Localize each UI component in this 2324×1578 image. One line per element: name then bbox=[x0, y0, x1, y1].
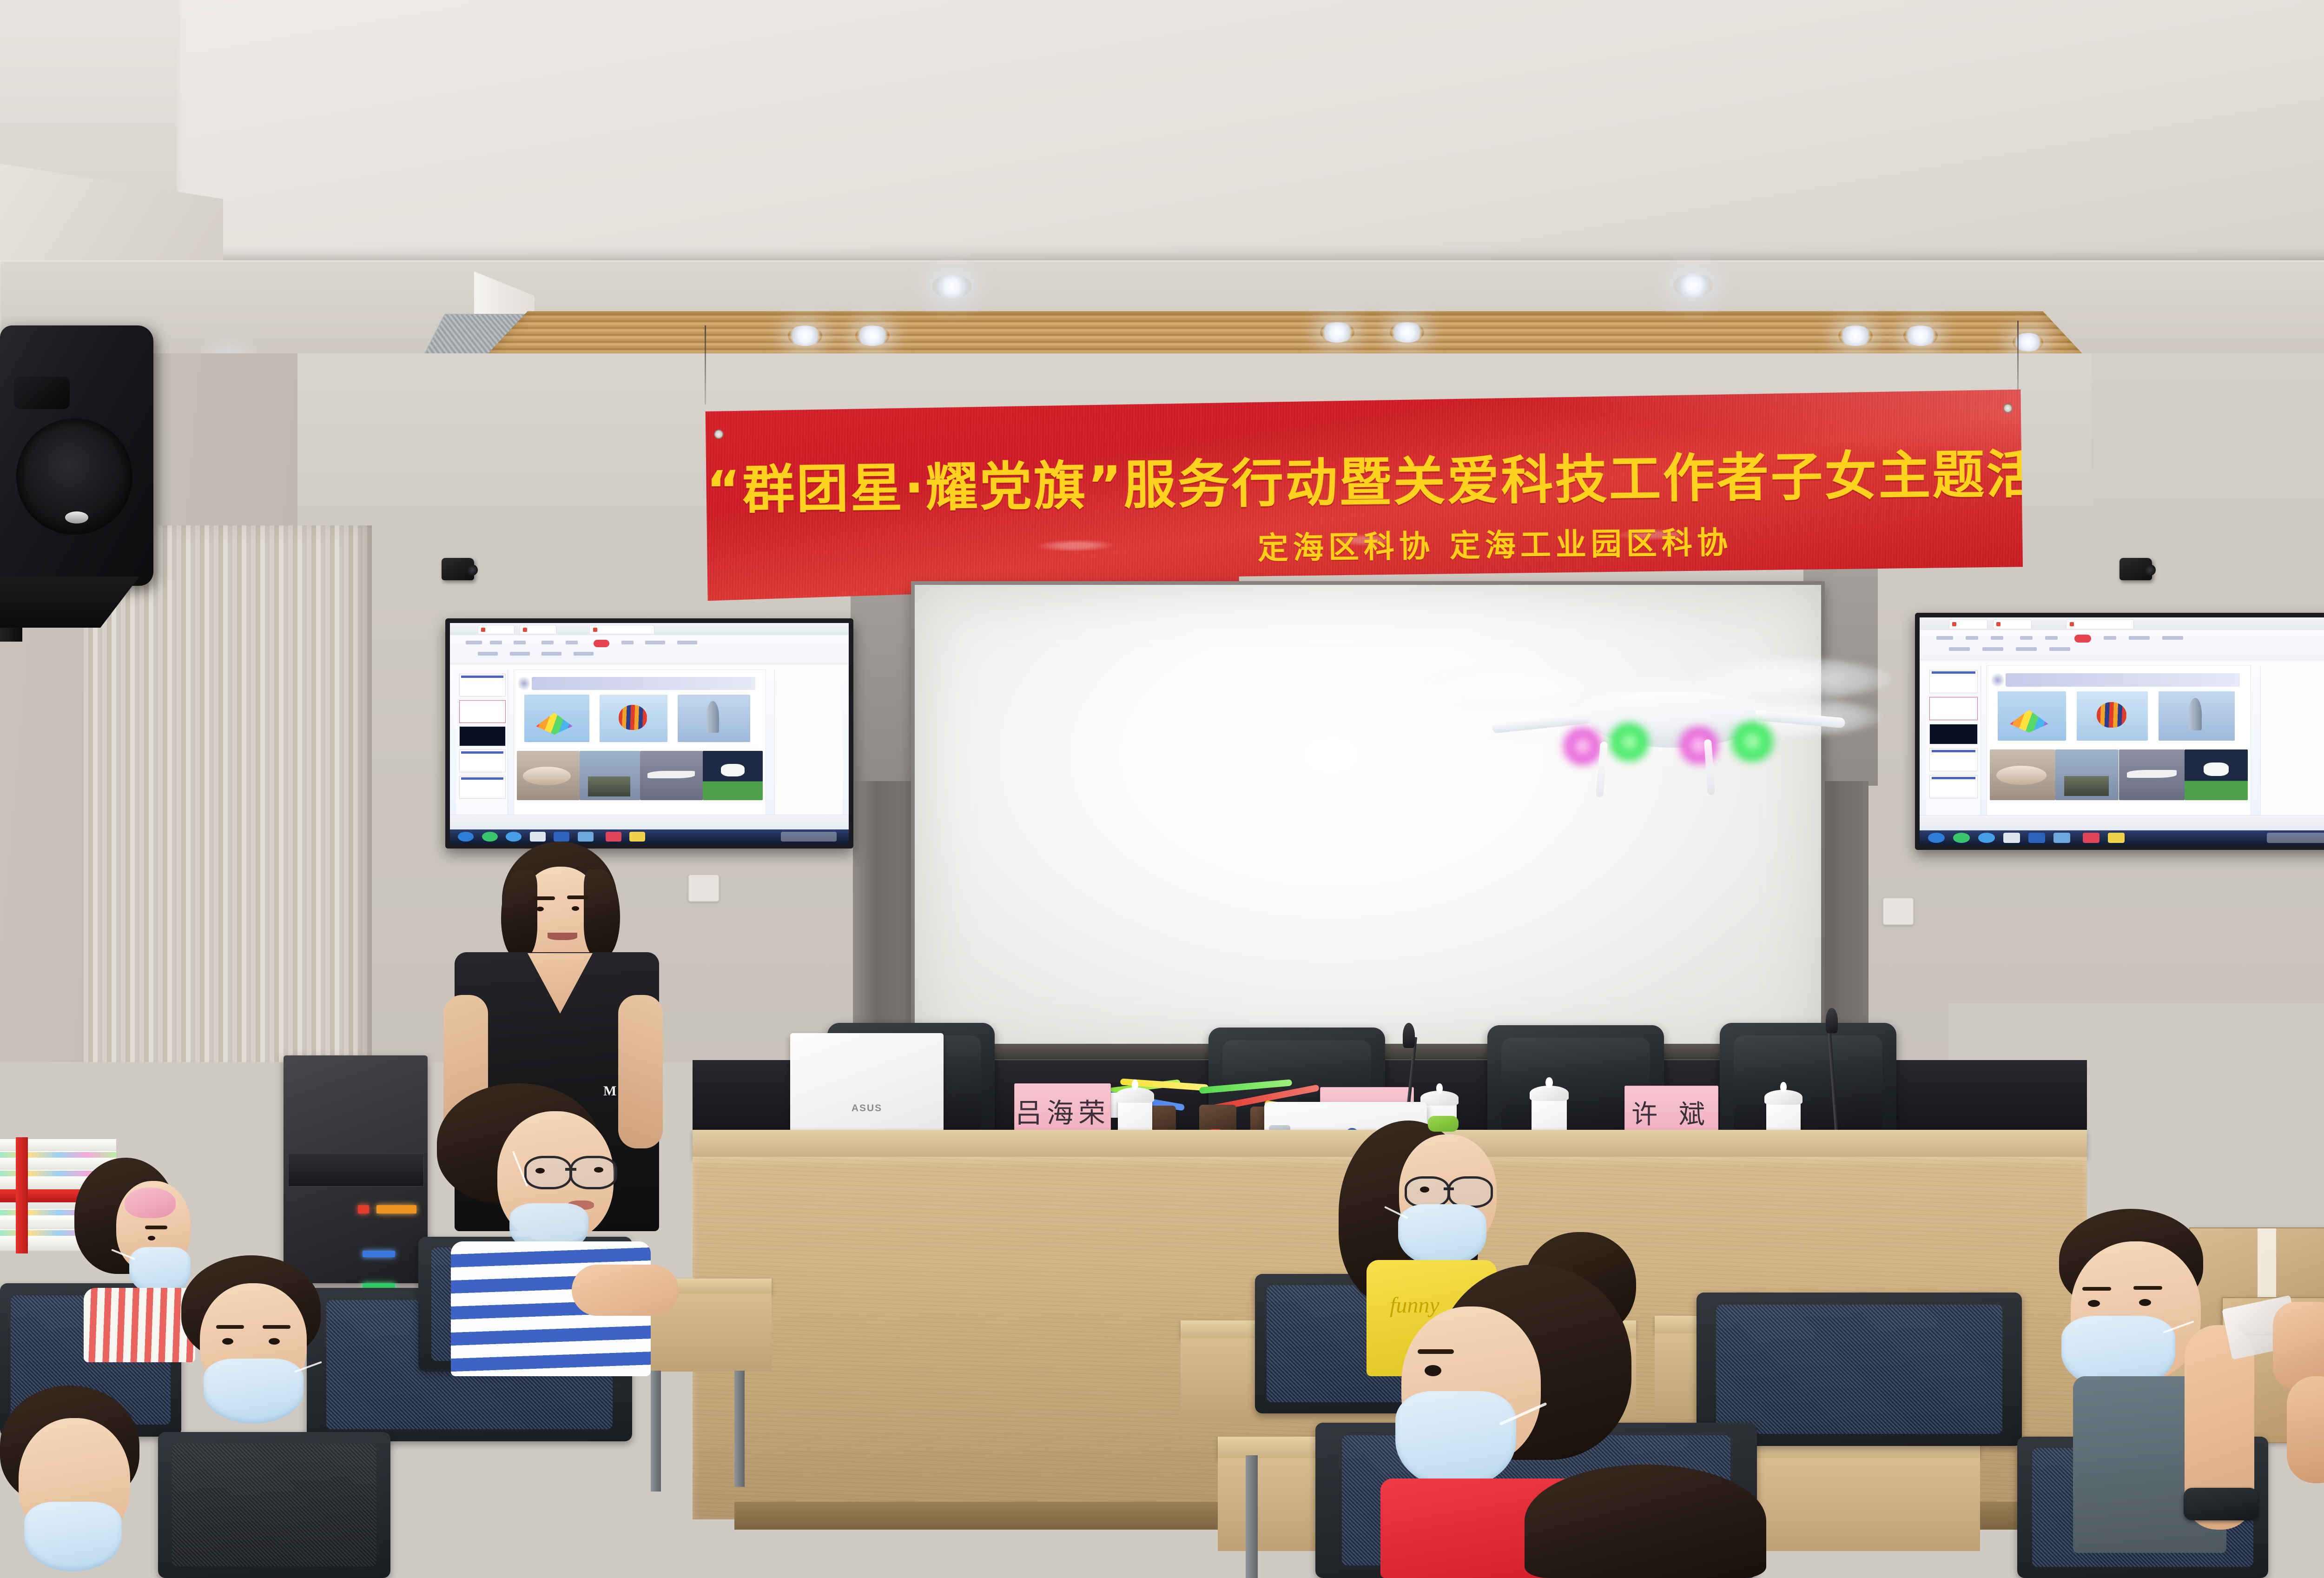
child-eye-left bbox=[222, 1338, 233, 1345]
gift-ribbon-vertical-2 bbox=[16, 1137, 28, 1253]
child-brow-left bbox=[1743, 1195, 1770, 1199]
child-eye-left bbox=[1749, 1207, 1759, 1213]
downlight-6 bbox=[1320, 322, 1354, 343]
pa-speaker bbox=[0, 325, 153, 586]
slide-thumbnail[interactable] bbox=[459, 674, 506, 696]
ribbon-tool[interactable] bbox=[541, 652, 561, 656]
drone-led-magenta-right bbox=[1673, 724, 1724, 766]
downlight-9 bbox=[1903, 325, 1938, 346]
slide-canvas[interactable] bbox=[514, 670, 766, 816]
slide-image-quadcopter bbox=[2185, 749, 2248, 800]
taskbar-icon-app2[interactable] bbox=[629, 832, 645, 842]
ribbon-tool[interactable] bbox=[1991, 636, 2003, 640]
notes-panel[interactable] bbox=[2260, 665, 2324, 816]
taskbar-icon-wps[interactable] bbox=[606, 832, 621, 842]
presenter-eye-left bbox=[536, 907, 544, 911]
slide-thumbnail[interactable] bbox=[1929, 724, 1978, 744]
child-brow-right bbox=[1789, 1194, 1816, 1198]
taskbar-icon-media[interactable] bbox=[2028, 833, 2045, 843]
slide-thumbnail[interactable] bbox=[1929, 670, 1978, 694]
ribbon-tool[interactable] bbox=[510, 652, 530, 656]
television-right bbox=[1915, 613, 2324, 850]
ribbon-tool[interactable] bbox=[621, 641, 634, 644]
slide-image-kite bbox=[524, 695, 590, 743]
hair-bow-icon bbox=[125, 1187, 176, 1218]
slide-image-kite bbox=[1998, 691, 2066, 741]
child-eye-right bbox=[594, 1167, 603, 1173]
name-placard-2-text: 许 斌 bbox=[1631, 1094, 1711, 1131]
microphone-head-2[interactable] bbox=[1826, 1008, 1838, 1033]
system-tray[interactable] bbox=[781, 832, 837, 842]
child-boy-glasses-striped bbox=[418, 1083, 679, 1381]
slide-image-hot-air-balloon bbox=[600, 695, 667, 743]
taskbar-icon-edge[interactable] bbox=[1978, 833, 1995, 843]
flying-drone bbox=[1404, 646, 1896, 800]
toy-drone-body-2 bbox=[1199, 1105, 1236, 1133]
speaker-badge-icon bbox=[65, 511, 88, 524]
taskbar-icon-tool[interactable] bbox=[578, 832, 594, 842]
slide-question-text bbox=[532, 677, 755, 690]
child-brow bbox=[1418, 1349, 1454, 1354]
book bbox=[0, 1077, 107, 1087]
drone-led-green-left bbox=[1604, 721, 1655, 763]
thumb-title-bar bbox=[461, 777, 503, 780]
child-arm bbox=[572, 1265, 679, 1316]
glasses-lens-right bbox=[570, 1156, 617, 1189]
ribbon-tool[interactable] bbox=[2049, 647, 2070, 651]
downlight-3 bbox=[1673, 273, 1713, 298]
slide-thumbnail[interactable] bbox=[1929, 775, 1978, 799]
child-brow-right bbox=[263, 1325, 290, 1329]
ribbon-active-tab[interactable] bbox=[2074, 635, 2091, 643]
downlight-4 bbox=[788, 325, 822, 346]
wps-tab-1[interactable] bbox=[478, 625, 515, 634]
presenter-eye-right bbox=[572, 906, 579, 911]
ribbon-tool[interactable] bbox=[1949, 647, 1970, 651]
banner-grommet-left bbox=[714, 430, 723, 439]
downlight-5 bbox=[855, 325, 890, 346]
slide-thumbnail[interactable] bbox=[1929, 748, 1978, 772]
slide-image-missile-launcher bbox=[580, 751, 640, 800]
notes-panel[interactable] bbox=[774, 670, 843, 816]
slide-image-quadcopter bbox=[703, 751, 763, 800]
taskbar-icon-wps[interactable] bbox=[2083, 833, 2100, 843]
taskbar-icon-edge[interactable] bbox=[506, 832, 522, 842]
television-left-screen bbox=[450, 623, 849, 844]
child-eye-right bbox=[2139, 1299, 2151, 1306]
child-boy-front-left bbox=[167, 1255, 339, 1441]
downlight-8 bbox=[1838, 325, 1873, 346]
laptop-brand-label: ASUS bbox=[846, 1103, 888, 1113]
slide-thumbnail-selected[interactable] bbox=[459, 700, 506, 723]
glasses-lens-right bbox=[1448, 1176, 1493, 1208]
ribbon-tool[interactable] bbox=[1982, 647, 2003, 651]
ribbon-tool[interactable] bbox=[466, 641, 482, 644]
taskbar-icon-app[interactable] bbox=[482, 832, 498, 842]
rack-led-orange bbox=[376, 1205, 416, 1213]
slide-image-fixed-wing-uav bbox=[640, 751, 703, 800]
ribbon-tool[interactable] bbox=[2129, 636, 2150, 640]
child-eye-left bbox=[535, 1168, 545, 1174]
wps-tab-2[interactable] bbox=[1993, 619, 2032, 629]
wps-tab-icon bbox=[481, 628, 485, 632]
wps-tab-active[interactable] bbox=[589, 625, 654, 634]
taskbar-icon-media[interactable] bbox=[554, 832, 569, 842]
face-mask bbox=[1732, 1227, 1830, 1296]
name-placard-1-text: 吕海荣 bbox=[1015, 1091, 1110, 1130]
teacup-knob bbox=[1545, 1077, 1552, 1088]
ribbon-tool[interactable] bbox=[566, 641, 578, 644]
television-left bbox=[445, 618, 853, 849]
slide-thumbnail-panel[interactable] bbox=[1926, 665, 1981, 816]
thumb-title-bar bbox=[1932, 777, 1976, 779]
speaker-horn bbox=[14, 377, 70, 409]
child-brow-left bbox=[216, 1325, 244, 1329]
child-brow-left bbox=[2082, 1287, 2111, 1291]
child-eye-left bbox=[2088, 1300, 2100, 1307]
ribbon-tool[interactable] bbox=[2104, 636, 2116, 640]
ribbon-tool[interactable] bbox=[2016, 647, 2037, 651]
wps-tab-icon bbox=[1952, 622, 1956, 626]
glasses-lens-left bbox=[524, 1156, 572, 1189]
ribbon-active-tab[interactable] bbox=[594, 640, 609, 647]
ribbon-tool[interactable] bbox=[478, 652, 498, 656]
microphone-head-1[interactable] bbox=[1403, 1023, 1415, 1048]
thumb-title-bar bbox=[1932, 750, 1976, 752]
glasses-bridge bbox=[565, 1168, 576, 1171]
slide-thumbnail[interactable] bbox=[459, 749, 506, 772]
face-mask bbox=[204, 1359, 304, 1424]
child-eye bbox=[148, 1236, 155, 1240]
ribbon-tool[interactable] bbox=[677, 641, 697, 644]
thumb-title-bar bbox=[1932, 671, 1976, 674]
child-torso bbox=[1701, 1293, 1878, 1390]
rack-led-blue bbox=[363, 1251, 395, 1257]
wps-tab-1[interactable] bbox=[1949, 619, 1987, 629]
wps-tab-2[interactable] bbox=[520, 625, 556, 634]
child-eye-right bbox=[1794, 1206, 1804, 1212]
ribbon-tool[interactable] bbox=[2045, 636, 2058, 640]
classroom-scene: “群团星·耀党旗”服务行动暨关爱科技工作者子女主题活动 定海区科协 定海工业园区… bbox=[0, 0, 2324, 1578]
child-girl-white-right bbox=[1692, 1130, 1887, 1390]
taskbar-icon-folder[interactable] bbox=[530, 832, 546, 842]
gift-ribbon-vertical bbox=[26, 1066, 38, 1149]
slide-image-rocket bbox=[678, 695, 751, 743]
slide-thumbnail-panel[interactable] bbox=[456, 670, 508, 816]
wps-tab-icon bbox=[523, 628, 527, 632]
book bbox=[0, 1110, 107, 1121]
eyeglasses bbox=[1405, 1176, 1493, 1203]
slide-thumbnail[interactable] bbox=[459, 726, 506, 746]
presenter-brow-right bbox=[567, 895, 589, 899]
slide-question-text bbox=[2006, 673, 2240, 687]
wps-tab-active[interactable] bbox=[2066, 619, 2134, 629]
slide-image-rocket bbox=[2159, 691, 2235, 741]
slide-thumbnail-selected[interactable] bbox=[1929, 697, 1978, 721]
banner-grommet-right bbox=[2003, 404, 2013, 413]
drone-led-green-right bbox=[1724, 720, 1780, 763]
child-arm bbox=[2287, 1376, 2324, 1483]
wall-outlet-right[interactable] bbox=[1882, 897, 1914, 925]
wps-tab-icon bbox=[1996, 622, 2000, 626]
ribbon-tool[interactable] bbox=[541, 641, 554, 644]
slide-image-hot-air-balloon bbox=[2077, 691, 2148, 741]
ribbon-tool[interactable] bbox=[1936, 636, 1953, 640]
wall-outlet-left[interactable] bbox=[688, 874, 720, 902]
hair-clip-icon bbox=[1428, 1116, 1459, 1132]
camera-lens-icon bbox=[2145, 564, 2156, 576]
event-banner: “群团星·耀党旗”服务行动暨关爱科技工作者子女主题活动 定海区科协 定海工业园区… bbox=[706, 390, 2023, 601]
teacup-knob bbox=[1132, 1080, 1139, 1090]
ribbon-tool[interactable] bbox=[490, 641, 502, 644]
banner-string-left bbox=[705, 325, 706, 404]
thumb-title-bar bbox=[461, 751, 503, 754]
child-brow-right bbox=[2133, 1286, 2162, 1290]
drone-icon bbox=[1991, 672, 2004, 688]
wps-tab-icon bbox=[2070, 622, 2074, 626]
slide-canvas[interactable] bbox=[1987, 665, 2251, 816]
floor bbox=[0, 1474, 2324, 1578]
ribbon-tool[interactable] bbox=[2020, 636, 2033, 640]
child-eye bbox=[1425, 1365, 1441, 1376]
wps-title-bar bbox=[450, 623, 849, 636]
child-partial-far-right bbox=[2268, 1283, 2324, 1483]
system-tray[interactable] bbox=[2267, 833, 2324, 843]
ribbon-tool[interactable] bbox=[1966, 636, 1978, 640]
taskbar-icon-folder[interactable] bbox=[2003, 833, 2020, 843]
slide-image-missile-launcher bbox=[2055, 749, 2119, 800]
rack-led-red bbox=[358, 1205, 369, 1213]
downlight-7 bbox=[1390, 322, 1424, 343]
ribbon-tool[interactable] bbox=[514, 641, 526, 644]
television-right-screen bbox=[1920, 617, 2324, 845]
glasses-lens-left bbox=[1405, 1176, 1450, 1208]
child-eye-right bbox=[269, 1338, 280, 1345]
drone-propeller-front-right bbox=[1692, 656, 1892, 701]
slide-image-airship bbox=[517, 751, 580, 800]
presenter-mouth bbox=[548, 933, 577, 940]
slide-thumbnail[interactable] bbox=[459, 776, 506, 799]
taskbar-icon-app2[interactable] bbox=[2108, 833, 2125, 843]
av-rack-panel[interactable] bbox=[288, 1153, 424, 1187]
slide-image-airship bbox=[1990, 749, 2056, 800]
teacup-knob bbox=[1436, 1083, 1443, 1094]
banner-title: “群团星·耀党旗”服务行动暨关爱科技工作者子女主题活动 bbox=[706, 432, 2022, 524]
ceiling-recess bbox=[177, 0, 2324, 260]
wps-ribbon bbox=[450, 635, 849, 664]
wps-title-bar bbox=[1920, 617, 2324, 630]
thumb-title-bar bbox=[461, 676, 503, 678]
ribbon-tool[interactable] bbox=[574, 652, 594, 656]
wps-tab-icon bbox=[593, 628, 597, 632]
slide-image-fixed-wing-uav bbox=[2119, 749, 2185, 800]
presenter-brow-left bbox=[533, 896, 555, 900]
wall-camera-left bbox=[442, 558, 474, 580]
taskbar-icon-browser[interactable] bbox=[458, 832, 474, 842]
taskbar-icon-browser[interactable] bbox=[1928, 833, 1945, 843]
wps-ribbon bbox=[1920, 630, 2324, 660]
taskbar-icon-app[interactable] bbox=[1953, 833, 1970, 843]
banner-subtitle: 定海区科协 定海工业园区科协 bbox=[707, 514, 2023, 575]
camera-lens-icon bbox=[467, 564, 478, 576]
windows-taskbar[interactable] bbox=[1920, 830, 2324, 845]
child-eye bbox=[1420, 1187, 1429, 1193]
glasses-bridge bbox=[1444, 1187, 1454, 1190]
ribbon-tool[interactable] bbox=[645, 641, 665, 644]
ribbon-tool[interactable] bbox=[2162, 636, 2183, 640]
book bbox=[0, 1094, 107, 1104]
drone-icon bbox=[518, 676, 530, 691]
wall-camera-right bbox=[2119, 558, 2152, 580]
wps-status-bar bbox=[1920, 815, 2324, 830]
downlight-2 bbox=[932, 274, 972, 298]
taskbar-icon-tool[interactable] bbox=[2053, 833, 2070, 843]
child-brow bbox=[145, 1226, 167, 1229]
wps-status-bar bbox=[450, 815, 849, 829]
